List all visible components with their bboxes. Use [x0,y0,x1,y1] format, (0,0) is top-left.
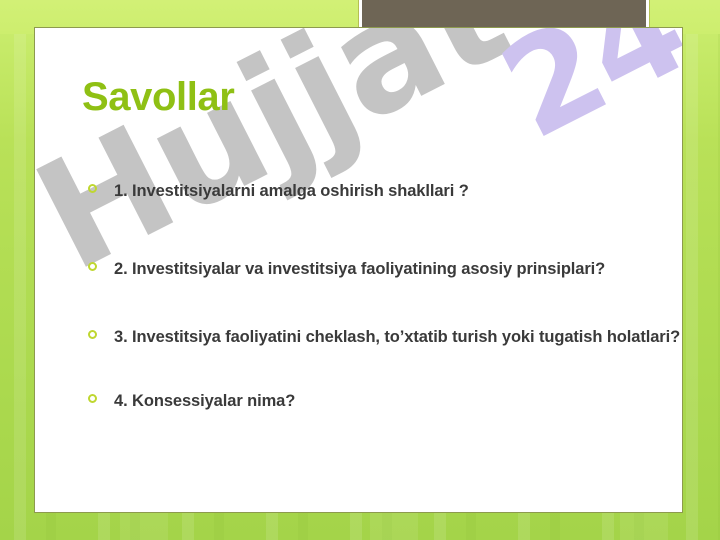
spacer [86,357,683,381]
list-item-text: 2. Investitsiyalar va investitsiya faoli… [114,260,605,278]
question-list: 1. Investitsiyalarni amalga oshirish sha… [86,171,683,421]
ring-bullet-icon [88,184,97,193]
watermark-24: 24 [479,27,683,169]
slide-title: Savollar [82,75,234,120]
slide-content-card: Hujjat 24 Savollar 1. Investitsiyalarni … [34,27,683,513]
list-item: 2. Investitsiyalar va investitsiya faoli… [86,249,683,289]
list-item-text: 1. Investitsiyalarni amalga oshirish sha… [114,182,469,200]
ring-bullet-icon [88,262,97,271]
list-item: 4. Konsessiyalar nima? [86,381,683,421]
ring-bullet-icon [88,330,97,339]
list-item-text: 3. Investitsiya faoliyatini cheklash, to… [114,328,680,346]
list-item: 3. Investitsiya faoliyatini cheklash, to… [86,317,683,357]
presentation-slide: Hujjat 24 Savollar 1. Investitsiyalarni … [0,0,720,540]
list-item: 1. Investitsiyalarni amalga oshirish sha… [86,171,683,211]
list-item-text: 4. Konsessiyalar nima? [114,392,295,410]
spacer [86,211,683,249]
ring-bullet-icon [88,394,97,403]
spacer [86,289,683,317]
